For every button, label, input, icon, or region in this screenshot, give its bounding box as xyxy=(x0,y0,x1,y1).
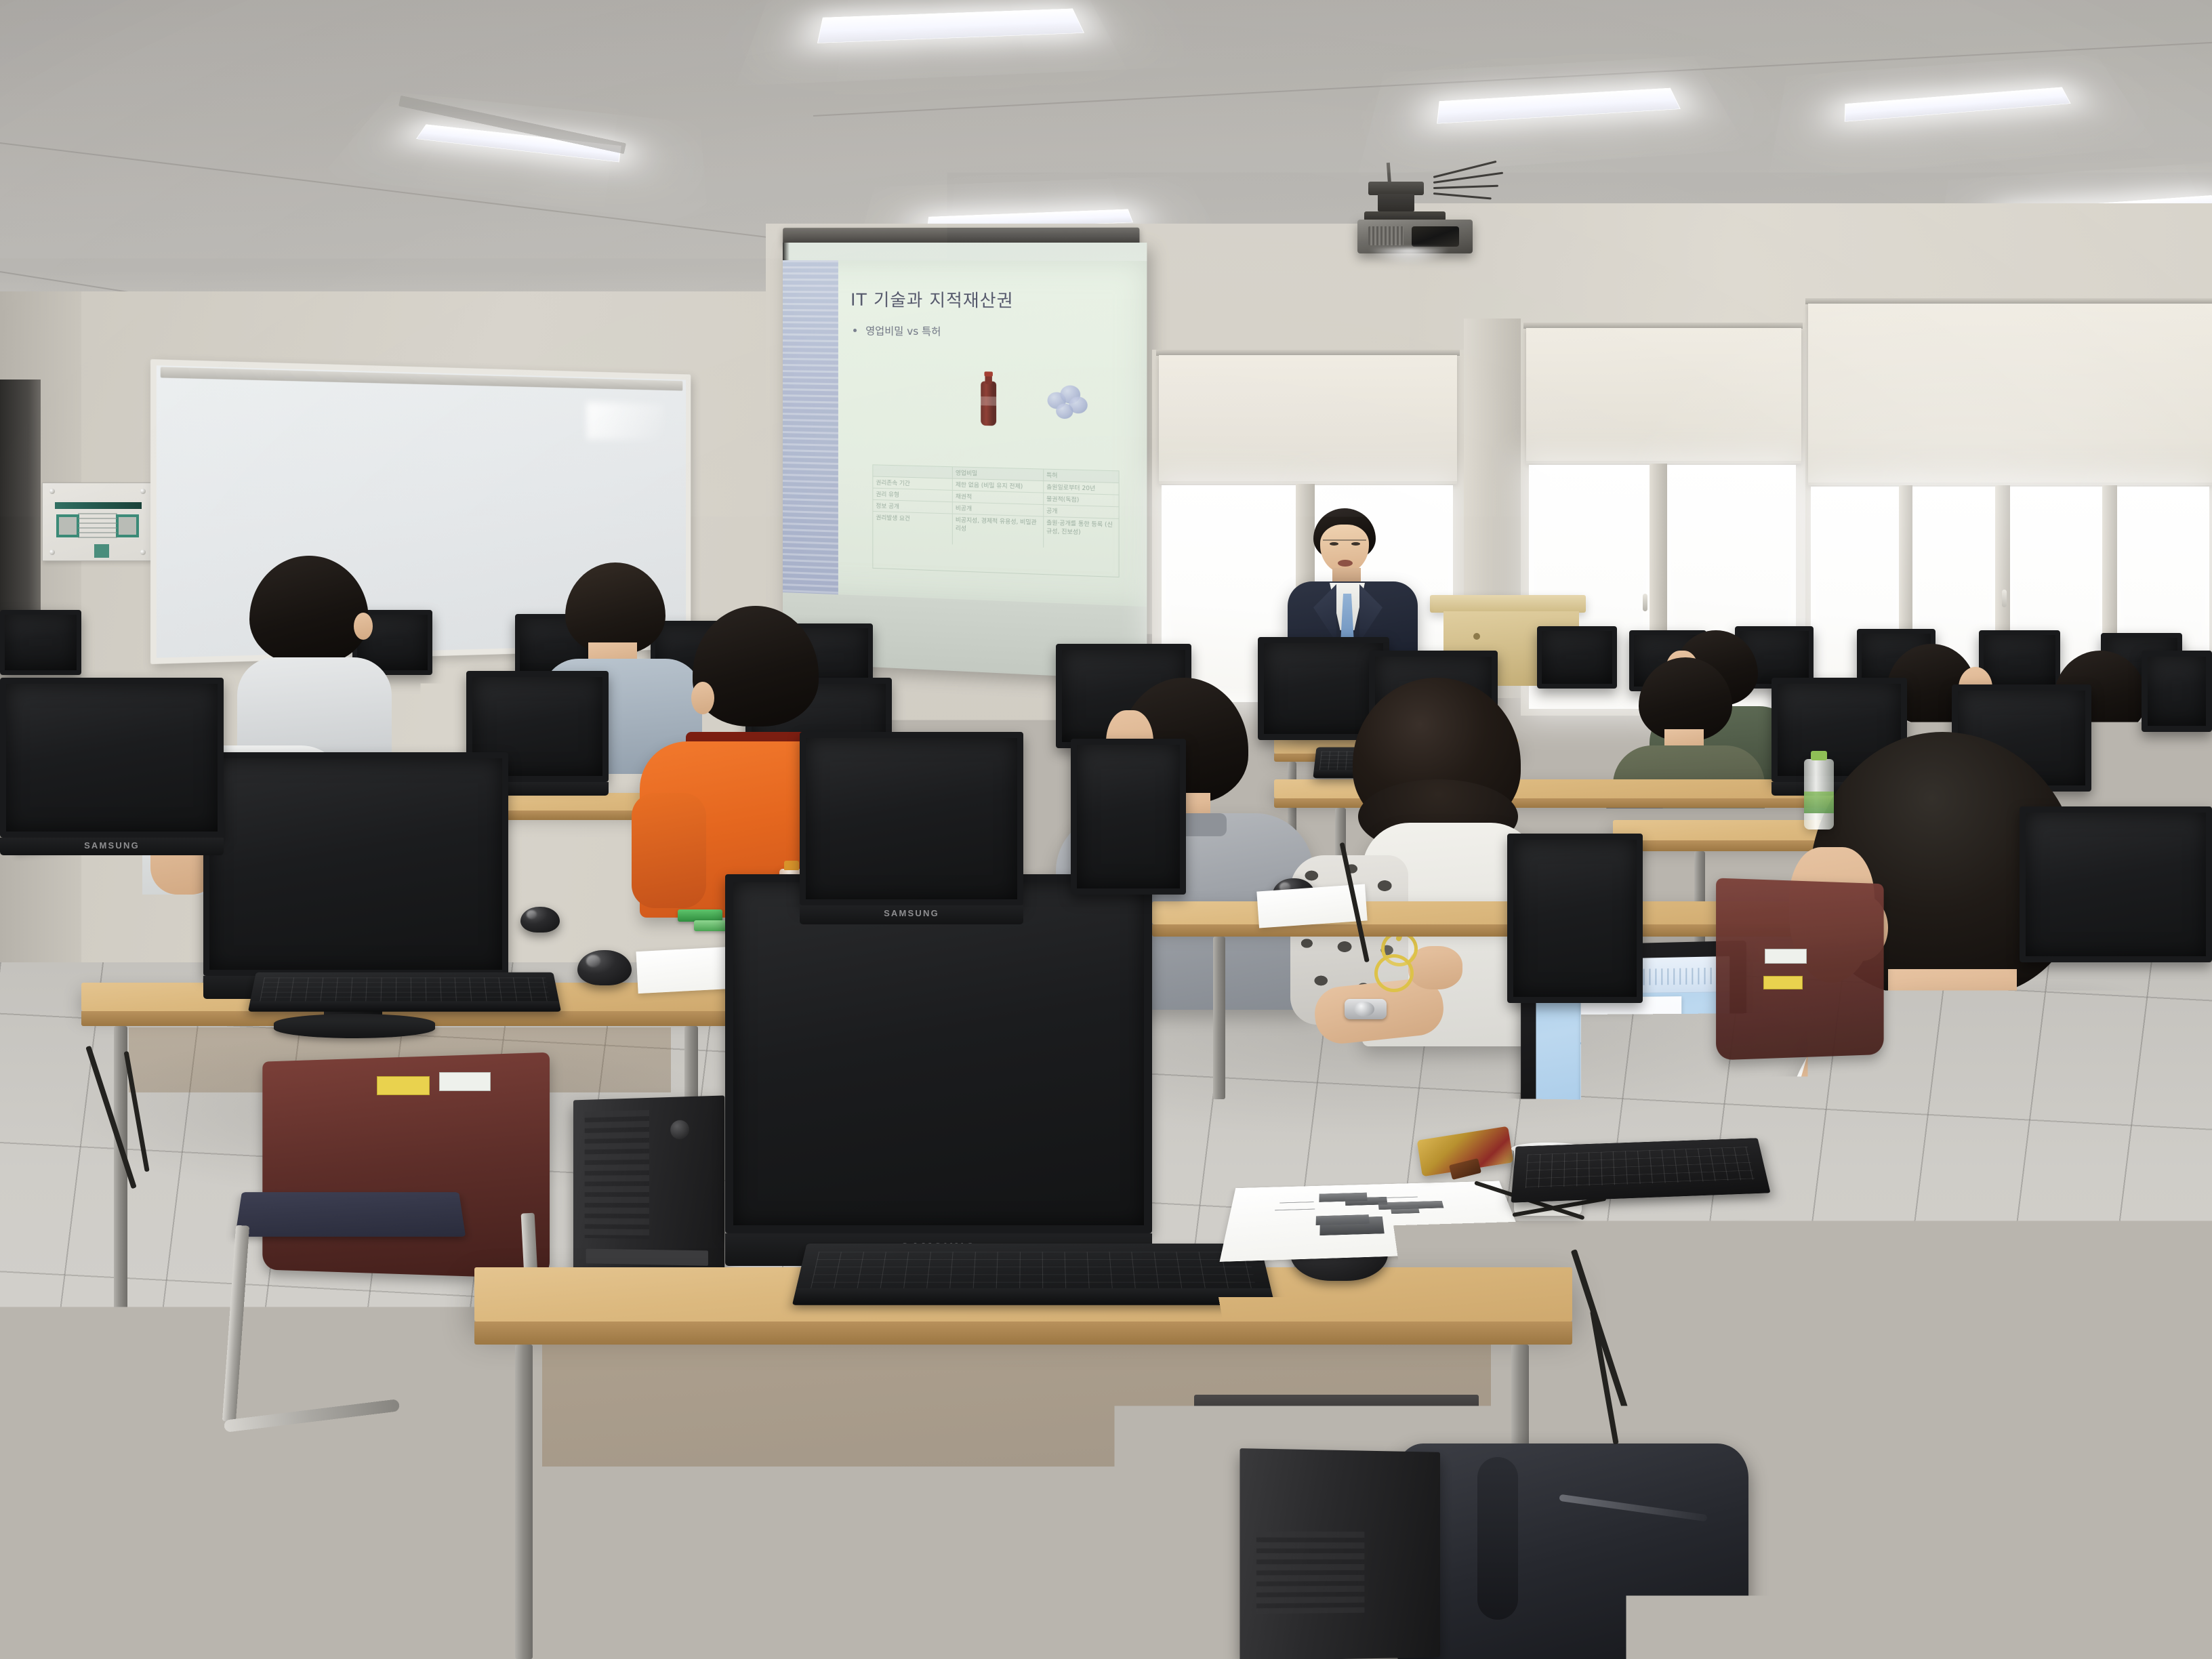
slide-title: IT 기술과 지적재산권 xyxy=(851,286,1118,312)
table-cell: 공개 xyxy=(1044,505,1119,518)
backpack[interactable] xyxy=(1396,1443,1748,1659)
monitor-brand-label: SAMSUNG xyxy=(800,908,1023,918)
table-cell: 권리 유형 xyxy=(873,489,952,502)
page-break xyxy=(1581,1042,1682,1044)
table-cell xyxy=(873,465,952,478)
student-ear xyxy=(691,682,714,714)
keyboard[interactable] xyxy=(248,972,561,1012)
student-sleeve xyxy=(632,793,706,908)
table-cell: 물권적(독점) xyxy=(1044,493,1119,507)
tower-vent xyxy=(1256,1531,1364,1614)
student-ear xyxy=(354,613,373,640)
document-page xyxy=(1581,996,1682,1117)
screw-icon xyxy=(140,489,146,494)
cable-tray xyxy=(1194,1395,1479,1422)
table-cell: 영업비밀 xyxy=(953,467,1044,480)
screw-icon xyxy=(49,550,55,555)
table-cell: 권리존속 기간 xyxy=(873,477,952,490)
desk-leg xyxy=(515,1345,533,1659)
bottle-cap xyxy=(784,861,799,870)
classroom-photo: IT 기술과 지적재산권 영업비밀 vs 특허 영업 xyxy=(0,0,2212,1659)
keyboard-foreground[interactable] xyxy=(792,1244,1275,1305)
monitor-foreground xyxy=(725,874,1152,1233)
monitor-brand-label: SAMSUNG xyxy=(0,840,224,851)
handout-text-line xyxy=(1379,1197,1418,1199)
monitor xyxy=(1507,834,1643,1003)
slide-table: 영업비밀 특허 권리존속 기간 제한 없음 (비밀 유지 전제) 출원일로부터 … xyxy=(872,464,1119,577)
slide: IT 기술과 지적재산권 영업비밀 vs 특허 영업 xyxy=(783,260,1147,607)
plaque-text-lines xyxy=(78,513,117,541)
slide-bullet-text: 영업비밀 vs 특허 xyxy=(865,323,941,338)
handout-text-line xyxy=(1275,1209,1315,1211)
presenter-eye xyxy=(1330,542,1338,546)
wristwatch-face-icon xyxy=(1354,1002,1374,1017)
roller-blind[interactable] xyxy=(1526,328,1801,464)
tower-vent xyxy=(585,1110,649,1239)
asset-sticker xyxy=(377,1076,430,1095)
lectern xyxy=(1430,595,1586,613)
monitor xyxy=(800,732,1023,905)
student-hair xyxy=(249,556,369,665)
handout-figure xyxy=(1319,1216,1384,1235)
monitor-stand-base xyxy=(274,1014,435,1038)
water-bottle[interactable] xyxy=(1804,759,1834,829)
projector xyxy=(1338,178,1481,259)
projector-neck xyxy=(1378,194,1414,211)
bullet-icon xyxy=(853,329,857,332)
student-collar xyxy=(1922,991,2098,1038)
bottle-cap xyxy=(1811,751,1827,760)
roller-blind[interactable] xyxy=(1808,304,2212,485)
projector-lens-icon xyxy=(1412,226,1459,247)
table-cell: 특허 xyxy=(1044,470,1119,483)
bottle-cap xyxy=(984,371,992,376)
wall-plaque xyxy=(42,483,153,561)
pc-tower-foreground xyxy=(1240,1448,1440,1659)
handout-figure xyxy=(1391,1206,1420,1214)
monitor xyxy=(2020,806,2212,962)
screw-icon xyxy=(49,489,55,494)
tower-power-button[interactable] xyxy=(670,1120,689,1140)
plaque-chip xyxy=(94,544,109,558)
bottle-label xyxy=(981,396,996,406)
window-handle[interactable] xyxy=(2002,590,2007,607)
cola-bottle-graphic xyxy=(981,371,996,426)
mouse[interactable] xyxy=(520,907,560,933)
table-row: 권리발생 요건 비공지성, 경제적 유용성, 비밀관리성 출원·공개를 통한 등… xyxy=(873,512,1118,550)
projector-mount xyxy=(1368,182,1424,195)
molecule-graphic xyxy=(1048,385,1089,422)
monitor xyxy=(203,752,508,976)
lectern-knob-icon xyxy=(1473,633,1480,640)
table-cell: 비공지성, 경제적 유용성, 비밀관리성 xyxy=(953,514,1044,548)
chair[interactable] xyxy=(1716,878,1884,1060)
laptop-keyboard[interactable] xyxy=(1525,1147,1755,1188)
desk-leg xyxy=(114,1026,127,1351)
mouse[interactable] xyxy=(577,950,632,985)
table-cell: 출원·공개를 통한 등록 (신규성, 진보성) xyxy=(1044,517,1119,550)
presenter-mouth xyxy=(1338,560,1353,567)
projector-glow xyxy=(1368,248,1450,266)
asset-sticker xyxy=(439,1072,491,1091)
whiteboard-glare xyxy=(586,402,664,441)
projector-vent xyxy=(1368,226,1404,245)
asset-sticker xyxy=(1765,949,1807,964)
chair-seat[interactable] xyxy=(235,1192,466,1237)
monitor xyxy=(0,610,81,675)
monitor xyxy=(0,678,224,838)
student-jeans xyxy=(1830,1484,2212,1659)
monitor xyxy=(1071,739,1186,895)
presenter-eye xyxy=(1351,542,1360,546)
eyeglasses-lens xyxy=(1374,954,1414,992)
table-cell: 출원일로부터 20년 xyxy=(1044,481,1119,495)
desk-edge xyxy=(474,1322,1572,1345)
asset-sticker xyxy=(1763,976,1803,989)
roller-blind[interactable] xyxy=(1159,355,1457,484)
desk-leg xyxy=(1213,937,1225,1099)
printed-handout xyxy=(1220,1181,1528,1262)
backpack-strap xyxy=(1477,1457,1518,1620)
tower-drive-bay xyxy=(586,1249,708,1266)
monitor xyxy=(2142,651,2212,732)
plaque-graphic xyxy=(56,514,79,537)
table-cell: 권리발생 요건 xyxy=(873,512,952,544)
polo-logo-icon xyxy=(2085,1022,2127,1034)
window-handle[interactable] xyxy=(1643,594,1647,611)
plaque-title-bar xyxy=(55,502,142,509)
molecule-node xyxy=(1056,403,1073,419)
plaque-graphic xyxy=(116,514,139,537)
bottle-label xyxy=(1804,792,1834,813)
handout-text-line xyxy=(1279,1202,1313,1203)
projector-cables xyxy=(1433,175,1515,202)
screw-icon xyxy=(140,550,146,555)
slide-sidebar-graphic xyxy=(783,260,838,594)
